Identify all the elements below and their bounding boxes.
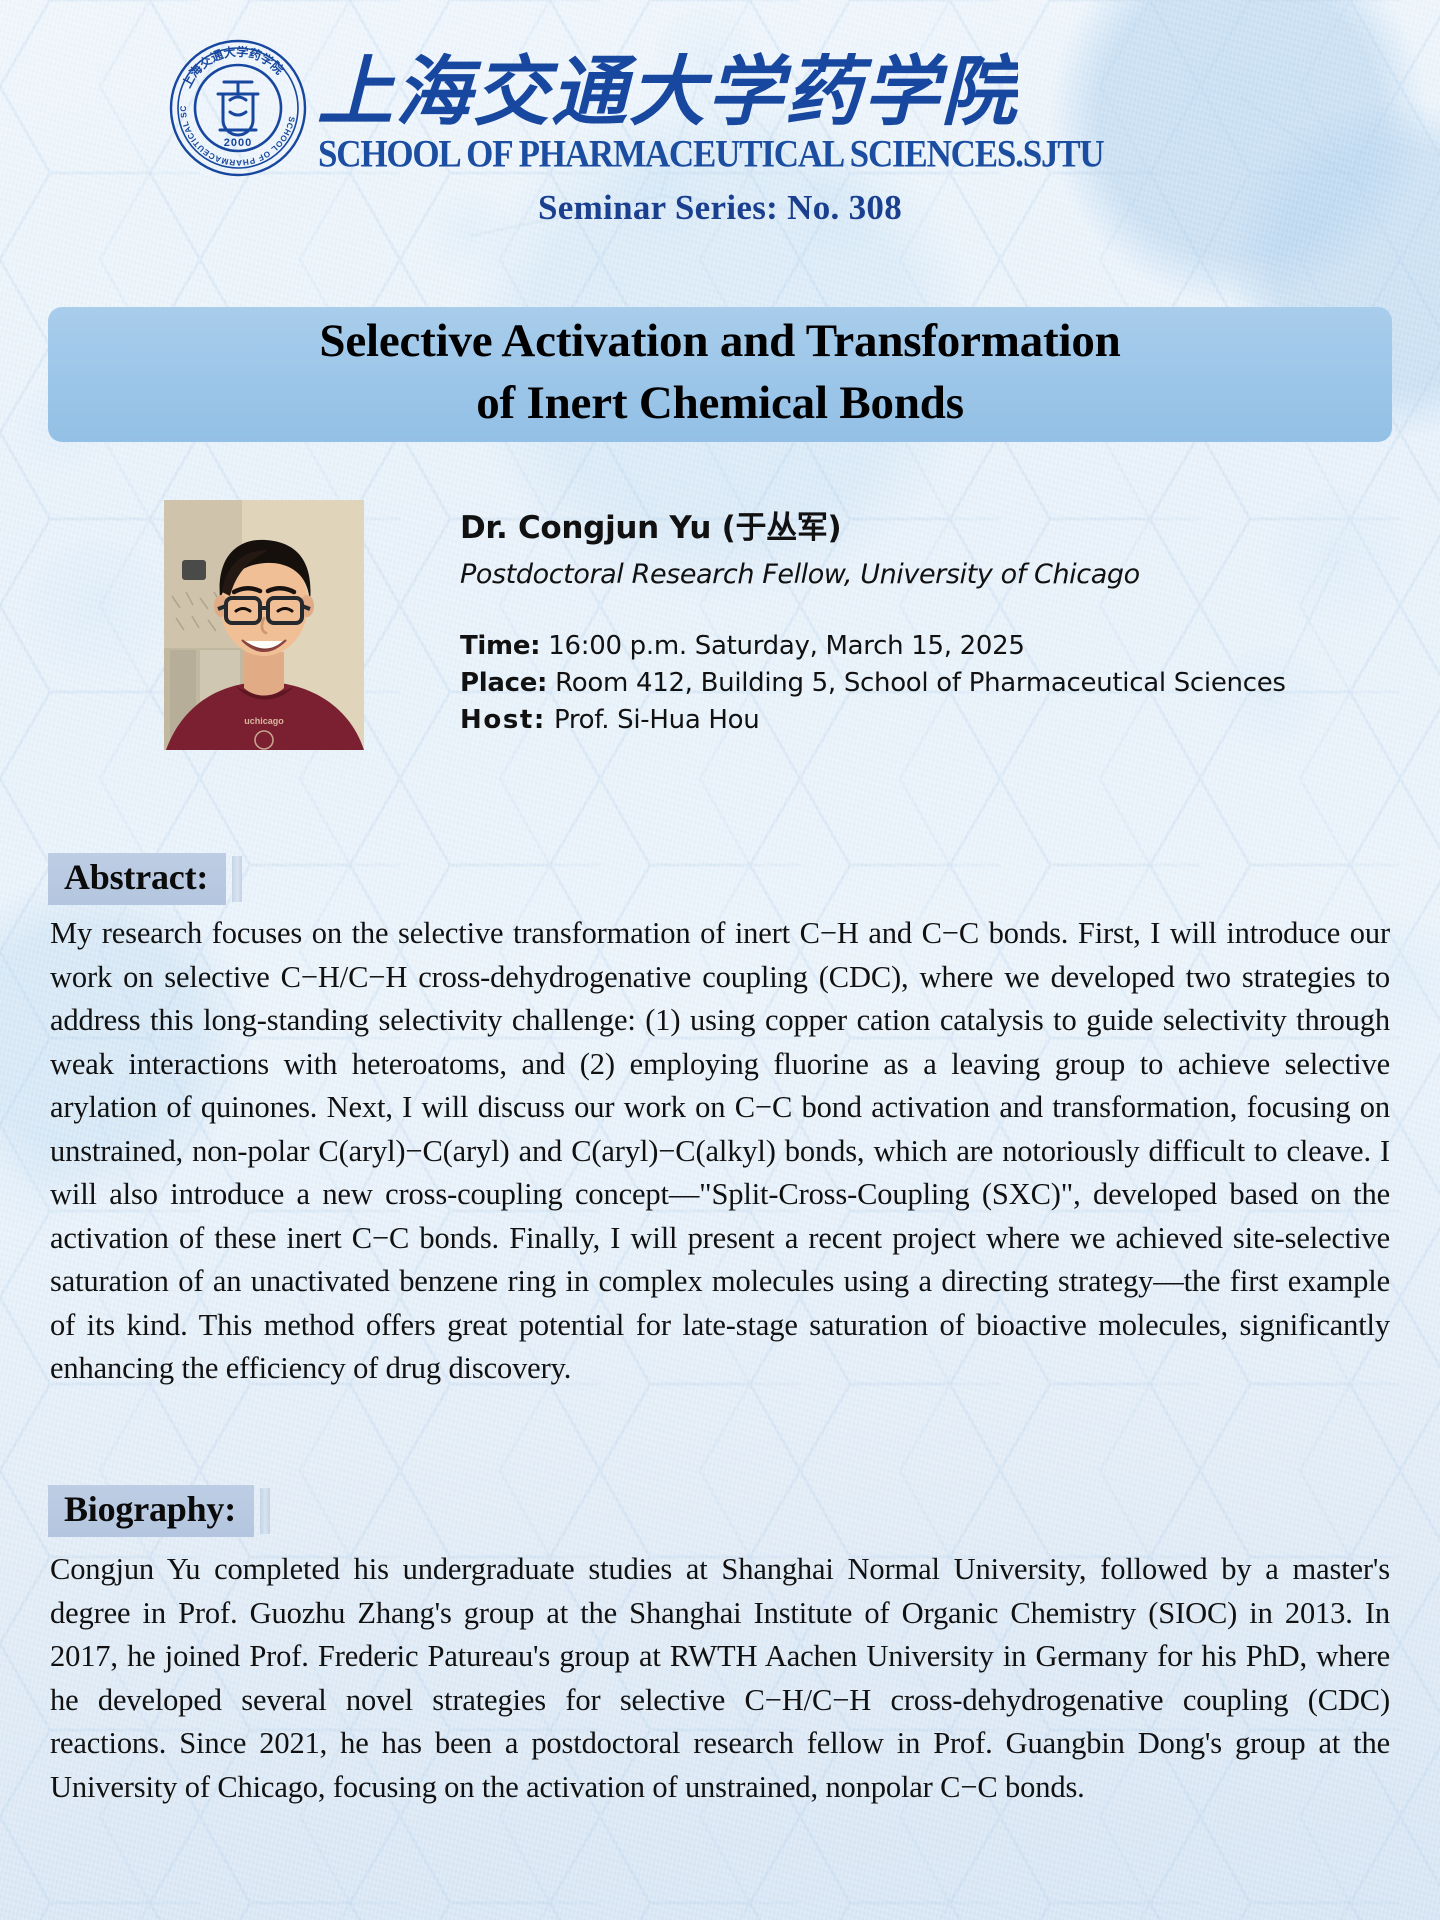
abstract-heading-accent-bar: [232, 856, 242, 902]
biography-body-text: Congjun Yu completed his undergraduate s…: [50, 1548, 1390, 1809]
abstract-heading: Abstract:: [48, 855, 242, 903]
speaker-details: Dr. Congjun Yu (于丛军) Postdoctoral Resear…: [460, 508, 1360, 739]
event-detail-place: Place:Room 412, Building 5, School of Ph…: [460, 665, 1360, 702]
seminar-title-line-2: of Inert Chemical Bonds: [476, 372, 964, 434]
biography-heading-accent-bar: [260, 1488, 270, 1534]
speaker-photo: uchicago: [164, 500, 364, 750]
time-label: Time:: [460, 631, 540, 661]
place-label: Place:: [460, 668, 547, 698]
speaker-affiliation: Postdoctoral Research Fellow, University…: [460, 556, 1360, 594]
svg-text:uchicago: uchicago: [244, 716, 284, 726]
abstract-heading-chip: Abstract:: [48, 853, 226, 905]
seminar-poster: 2000 上海交通大学药学院 SCHOOL OF PHARMACEUTICAL …: [0, 0, 1440, 1920]
speaker-name: Dr. Congjun Yu (于丛军): [460, 508, 1360, 548]
poster-header: 2000 上海交通大学药学院 SCHOOL OF PHARMACEUTICAL …: [0, 0, 1440, 252]
abstract-body-text: My research focuses on the selective tra…: [50, 912, 1390, 1391]
seminar-title-line-1: Selective Activation and Transformation: [319, 310, 1120, 372]
seminar-title-banner: Selective Activation and Transformation …: [48, 307, 1392, 442]
host-value: Prof. Si-Hua Hou: [554, 705, 760, 735]
abstract-heading-text: Abstract:: [64, 857, 208, 897]
biography-heading-text: Biography:: [64, 1489, 236, 1529]
seminar-series-label: Seminar Series: No. 308: [0, 188, 1440, 228]
host-label: Host:: [460, 705, 546, 735]
brand-name-chinese-text: 上海交通大学药学院: [318, 47, 1018, 136]
time-value: 16:00 p.m. Saturday, March 15, 2025: [548, 631, 1024, 661]
place-value: Room 412, Building 5, School of Pharmace…: [555, 668, 1286, 698]
brand-name-english: SCHOOL OF PHARMACEUTICAL SCIENCES.SJTU: [318, 132, 1018, 177]
event-detail-list: Time:16:00 p.m. Saturday, March 15, 2025…: [460, 628, 1360, 739]
event-detail-host: Host:Prof. Si-Hua Hou: [460, 702, 1360, 739]
svg-text:2000: 2000: [224, 137, 252, 149]
biography-heading-chip: Biography:: [48, 1485, 254, 1537]
sjtu-pharmacy-seal-icon: 2000 上海交通大学药学院 SCHOOL OF PHARMACEUTICAL …: [168, 38, 308, 178]
speaker-section: uchicago Dr. Congjun Yu (于丛军) Postdoctor…: [0, 500, 1440, 820]
event-detail-time: Time:16:00 p.m. Saturday, March 15, 2025: [460, 628, 1360, 665]
brand-name-chinese: 上海交通大学药学院: [318, 42, 1018, 138]
biography-heading: Biography:: [48, 1487, 270, 1535]
